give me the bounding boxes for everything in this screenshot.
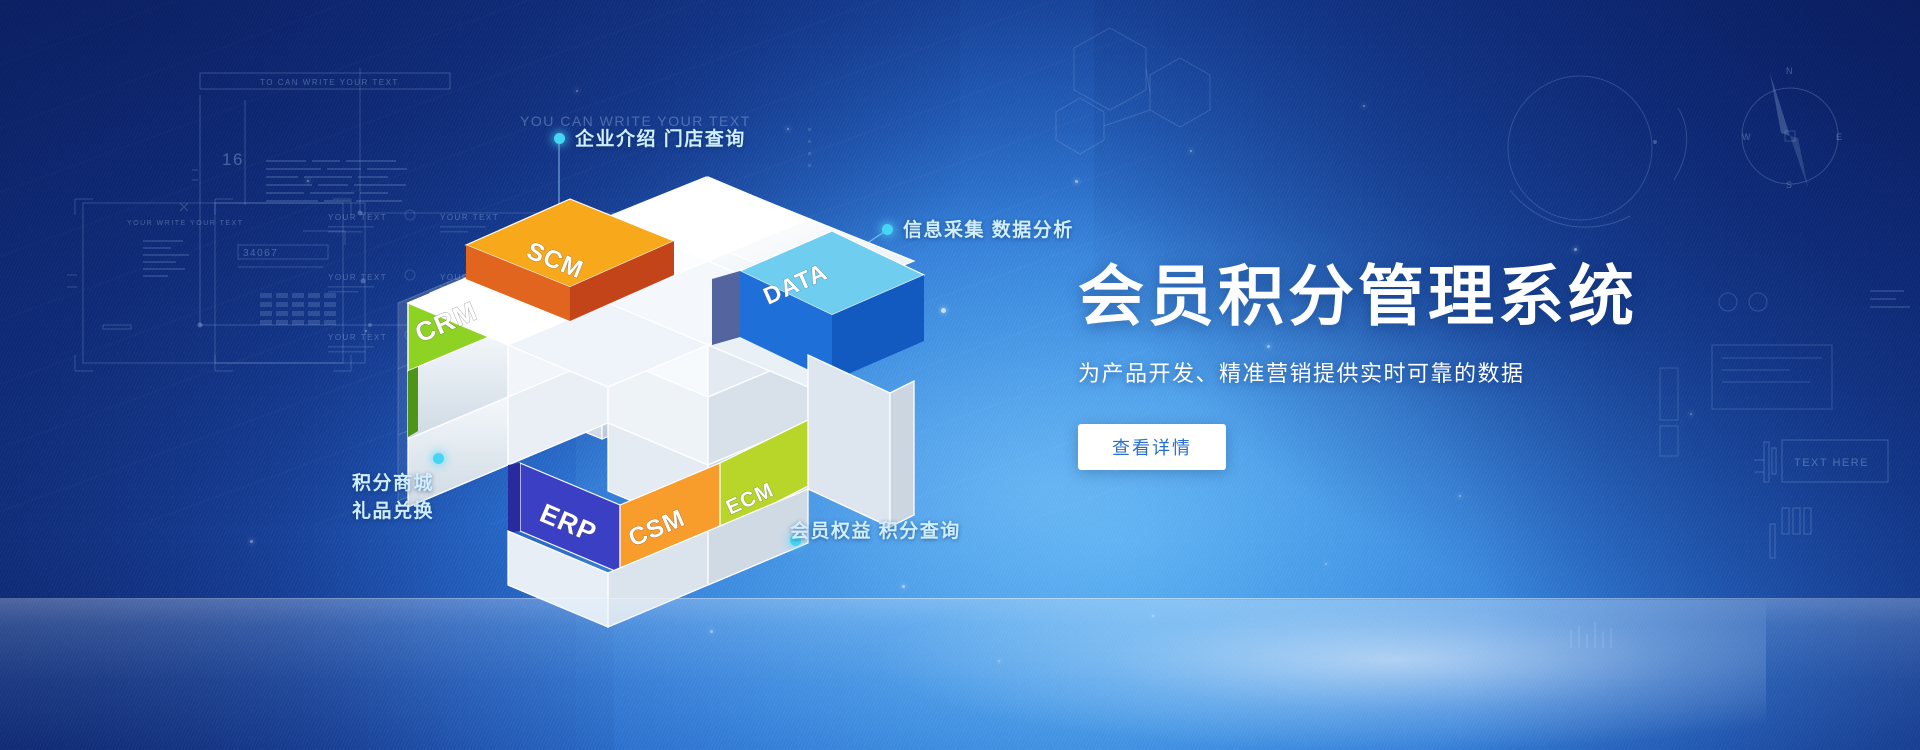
hero-banner: TO CAN WRITE YOUR TEXT 16 [0, 0, 1920, 750]
ground-light-pool [883, 600, 1766, 750]
callout-line-points-mall-2: 礼品兑换 [352, 501, 434, 522]
hero-copy-block: 会员积分管理系统 为产品开发、精准营销提供实时可靠的数据 查看详情 [1078, 262, 1678, 470]
callout-label-points-mall: 积分商城 礼品兑换 [352, 470, 434, 525]
rubik-cube-illustration: SCM CRM DATA ERP CSM ECM [390, 175, 950, 635]
callout-dot-data [882, 224, 893, 235]
page-title: 会员积分管理系统 [1078, 262, 1678, 332]
view-details-button[interactable]: 查看详情 [1078, 424, 1226, 470]
callout-line-points-mall-1: 积分商城 [352, 473, 434, 494]
callout-label-enterprise: 企业介绍 门店查询 [575, 124, 746, 151]
callout-dot-enterprise [554, 133, 565, 144]
page-subtitle: 为产品开发、精准营销提供实时可靠的数据 [1078, 356, 1678, 388]
callout-label-data: 信息采集 数据分析 [903, 215, 1074, 242]
callout-label-member-rights: 会员权益 积分查询 [790, 516, 961, 543]
callout-dot-points-mall [433, 453, 444, 464]
